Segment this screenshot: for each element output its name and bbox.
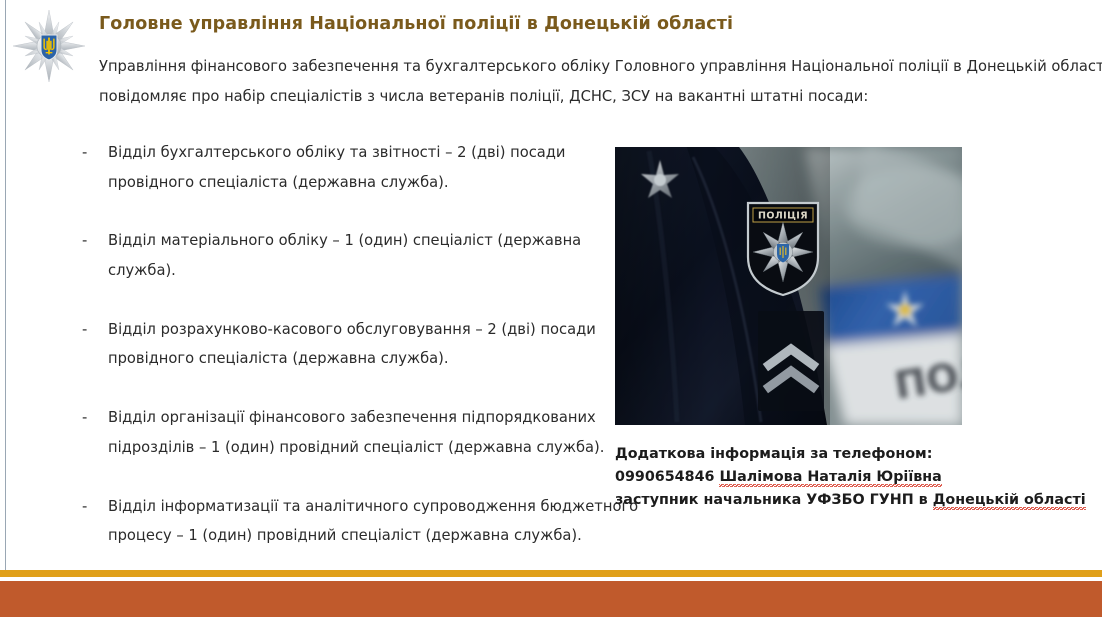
photo-svg: ПОЛІ ПОЛІЦІЯ (615, 147, 962, 425)
list-item: - Відділ розрахунково-касового обслугову… (80, 315, 600, 374)
contact-phone-person: 0990654846 Шалімова Наталія Юріївна (615, 466, 1085, 489)
list-bullet: - (82, 226, 87, 256)
contact-position-prefix: заступник начальника УФЗБО ГУНП в (615, 492, 928, 508)
list-item: - Відділ матеріального обліку – 1 (один)… (80, 226, 600, 285)
intro-line-1: Управління фінансового забезпечення та б… (99, 52, 1074, 82)
list-bullet: - (82, 315, 87, 345)
list-bullet: - (82, 138, 87, 168)
emblem-svg (11, 8, 87, 84)
list-item-line-1: Відділ інформатизації та аналітичного су… (108, 492, 600, 522)
police-officer-uniform-photo: ПОЛІ ПОЛІЦІЯ (615, 147, 962, 425)
list-item: - Відділ організації фінансового забезпе… (80, 403, 600, 462)
page-title: Головне управління Національної поліції … (99, 14, 1059, 35)
intro-paragraph: Управління фінансового забезпечення та б… (99, 52, 1074, 112)
footer-gold-stripe (0, 570, 1102, 577)
contact-heading: Додаткова інформація за телефоном: (615, 443, 1085, 466)
list-bullet: - (82, 492, 87, 522)
list-item: - Відділ бухгалтерського обліку та звітн… (80, 138, 600, 197)
footer-terracotta-band (0, 581, 1102, 617)
contact-person: Шалімова Наталія Юріївна (719, 469, 941, 487)
left-margin-rule (5, 0, 6, 578)
contact-position: заступник начальника УФЗБО ГУНП в Донець… (615, 489, 1085, 512)
list-item-line-2: підрозділів – 1 (один) провідний спеціал… (108, 433, 600, 463)
list-item-line-2: провідного спеціаліста (державна служба)… (108, 168, 600, 198)
list-item-line-1: Відділ бухгалтерського обліку та звітнос… (108, 138, 600, 168)
list-item-line-1: Відділ розрахунково-касового обслуговува… (108, 315, 600, 345)
list-item-line-1: Відділ організації фінансового забезпече… (108, 403, 600, 433)
list-item-line-1: Відділ матеріального обліку – 1 (один) с… (108, 226, 600, 256)
list-item-line-2: провідного спеціаліста (державна служба)… (108, 344, 600, 374)
list-item-line-2: служба). (108, 256, 600, 286)
contact-block: Додаткова інформація за телефоном: 09906… (615, 443, 1085, 512)
contact-position-region: Донецькій області (933, 492, 1086, 510)
intro-line-2: повідомляє про набір спеціалістів з числ… (99, 82, 1074, 112)
list-item-line-2: процесу – 1 (один) провідний спеціаліст … (108, 521, 600, 551)
vacancy-list: - Відділ бухгалтерського обліку та звітн… (80, 138, 600, 580)
document-page: Головне управління Національної поліції … (0, 0, 1102, 617)
list-bullet: - (82, 403, 87, 433)
list-item: - Відділ інформатизації та аналітичного … (80, 492, 600, 551)
ukrainian-police-star-emblem (11, 8, 87, 84)
contact-phone: 0990654846 (615, 469, 714, 485)
